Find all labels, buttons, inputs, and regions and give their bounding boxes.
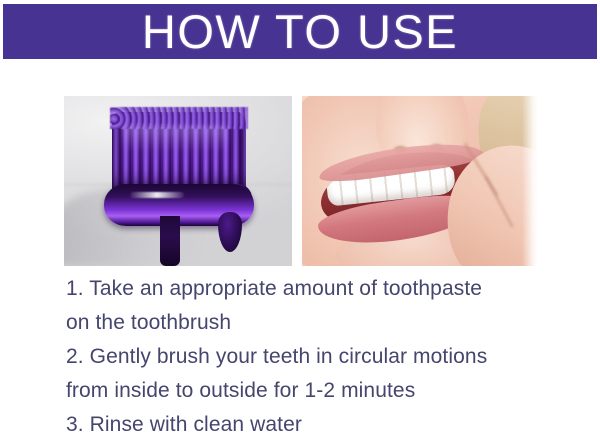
toothbrush-illustration bbox=[100, 112, 268, 266]
toothbrush-handle bbox=[160, 216, 180, 266]
toothbrush-head-highlight bbox=[130, 192, 184, 198]
instruction-line: 3. Rinse with clean water bbox=[66, 408, 586, 442]
instruction-line: 1. Take an appropriate amount of toothpa… bbox=[66, 272, 586, 306]
bristle-highlight bbox=[122, 126, 228, 172]
instruction-line: from inside to outside for 1-2 minutes bbox=[66, 374, 586, 408]
toothbrush-photo bbox=[64, 96, 292, 266]
toothpaste-drip bbox=[218, 212, 242, 252]
instruction-line: on the toothbrush bbox=[66, 306, 586, 340]
page-title: HOW TO USE bbox=[142, 8, 458, 55]
image-row bbox=[64, 96, 538, 266]
header-banner: HOW TO USE bbox=[3, 4, 597, 59]
photo-edge-fade bbox=[522, 96, 538, 266]
how-to-use-page: HOW TO USE bbox=[0, 0, 600, 440]
instruction-line: 2. Gently brush your teeth in circular m… bbox=[66, 340, 586, 374]
instructions-list: 1. Take an appropriate amount of toothpa… bbox=[66, 272, 586, 442]
smiling-woman-photo bbox=[302, 96, 538, 266]
